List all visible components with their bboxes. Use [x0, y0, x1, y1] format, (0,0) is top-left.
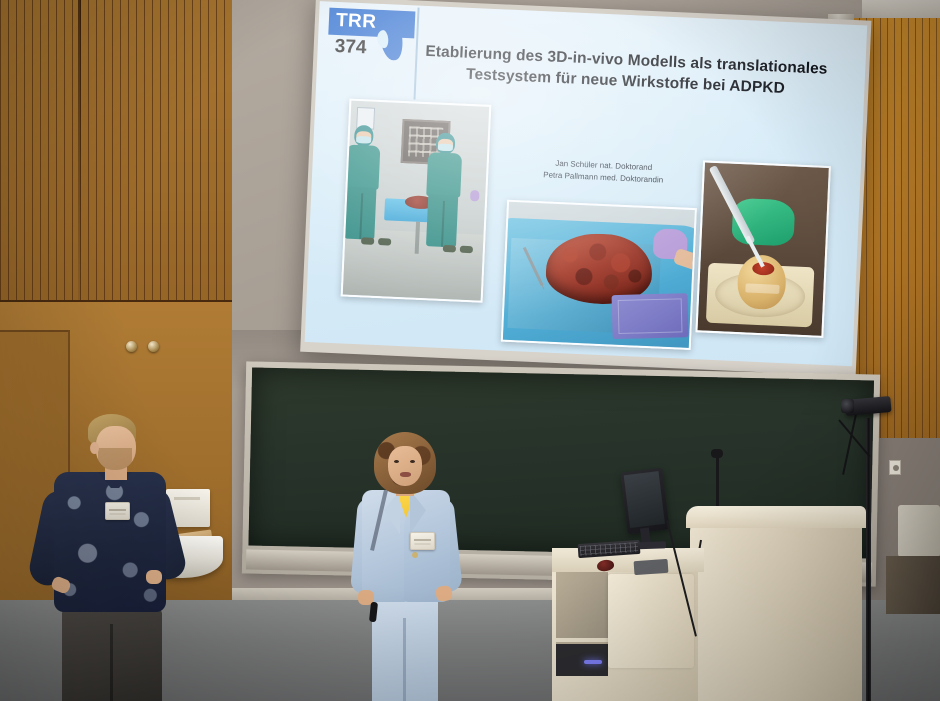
surgical-tray — [612, 293, 689, 339]
stool — [886, 556, 940, 614]
slide-authors: Jan Schüler nat. Doktorand Petra Pallman… — [508, 156, 699, 188]
kidney-specimen-photo — [501, 200, 697, 350]
logo-number-text: 374 — [334, 36, 367, 59]
presenter-woman — [348, 432, 464, 701]
wall-fixture-icon — [148, 341, 159, 352]
ear — [90, 442, 99, 454]
suit-trousers — [372, 596, 438, 701]
right-hand — [435, 585, 453, 602]
eye — [410, 460, 415, 463]
suit-jacket-left — [362, 490, 408, 602]
projection-screen: TRR 374 Etablierung des 3D-in-vivo Model… — [300, 0, 871, 376]
storage-bin — [898, 505, 940, 557]
microphone-icon — [711, 449, 723, 458]
trousers — [62, 608, 162, 701]
eye — [394, 460, 399, 463]
beard — [98, 448, 132, 470]
camera-lens-icon — [841, 399, 854, 413]
monitor-screen — [624, 471, 665, 528]
slide-title: Etablierung des 3D-in-vivo Modells als t… — [394, 41, 857, 103]
lectern — [690, 515, 862, 701]
egg-cam-assay-photo — [695, 160, 831, 338]
right-hand — [146, 570, 162, 584]
lectern-top — [686, 506, 866, 528]
face — [388, 446, 422, 486]
lecture-hall-photo: TRR 374 Etablierung des 3D-in-vivo Model… — [0, 0, 940, 701]
mouse-pad — [634, 559, 669, 575]
name-badge — [410, 532, 435, 550]
desk-door[interactable] — [608, 574, 694, 668]
power-outlet[interactable] — [889, 460, 901, 475]
jacket-button — [412, 552, 418, 558]
desk-monitor[interactable] — [620, 468, 669, 535]
panel-seam — [78, 0, 81, 300]
camera-stand — [866, 418, 871, 701]
patterned-shirt — [54, 472, 166, 612]
name-badge — [105, 502, 130, 520]
status-led — [584, 660, 602, 664]
presenter-man — [10, 412, 180, 701]
av-equipment — [556, 642, 608, 676]
wall-fixture-icon — [126, 341, 137, 352]
presentation-slide: TRR 374 Etablierung des 3D-in-vivo Model… — [305, 1, 868, 366]
mouth — [400, 472, 411, 477]
logo-trr-text: TRR — [335, 10, 377, 34]
desk-cavity — [556, 568, 608, 638]
operating-room-photo — [341, 99, 492, 303]
